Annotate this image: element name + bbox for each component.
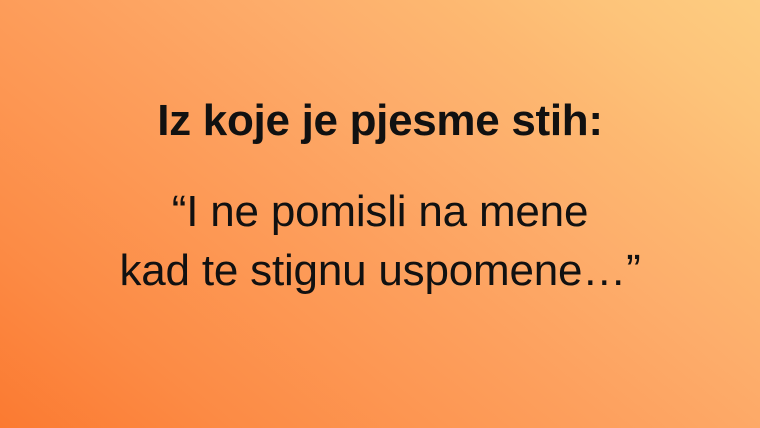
quiz-card: Iz koje je pjesme stih: “I ne pomisli na… xyxy=(0,0,760,428)
page-title: Iz koje je pjesme stih: xyxy=(0,95,760,147)
quote-block: “I ne pomisli na mene kad te stignu uspo… xyxy=(0,182,760,300)
quote-line-2: kad te stignu uspomene…” xyxy=(0,241,760,300)
quote-line-1: “I ne pomisli na mene xyxy=(0,182,760,241)
